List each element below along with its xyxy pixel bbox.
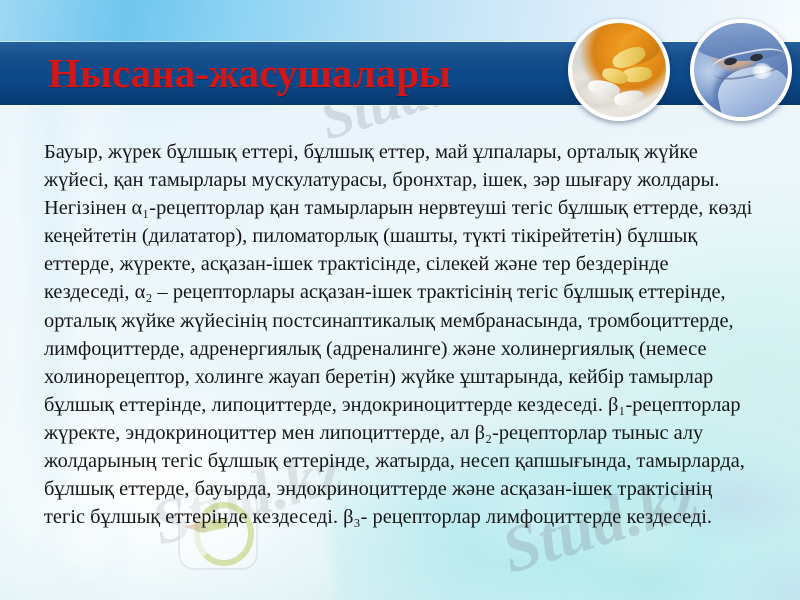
background-top-glow [0, 0, 800, 46]
body-paragraph: Бауыр, жүрек бұлшық еттері, бұлшық еттер… [44, 138, 756, 531]
page-title: Нысана-жасушалары [48, 44, 451, 102]
slide-canvas: Stud.kz Stud.kz Stud.kz Нысана-жасушалар… [0, 0, 800, 600]
pill-bottle-photo [568, 19, 670, 121]
loupe-highlight-shape [752, 63, 772, 79]
body-text-block: Бауыр, жүрек бұлшық еттері, бұлшық еттер… [44, 138, 756, 531]
surgeon-photo [690, 19, 792, 121]
